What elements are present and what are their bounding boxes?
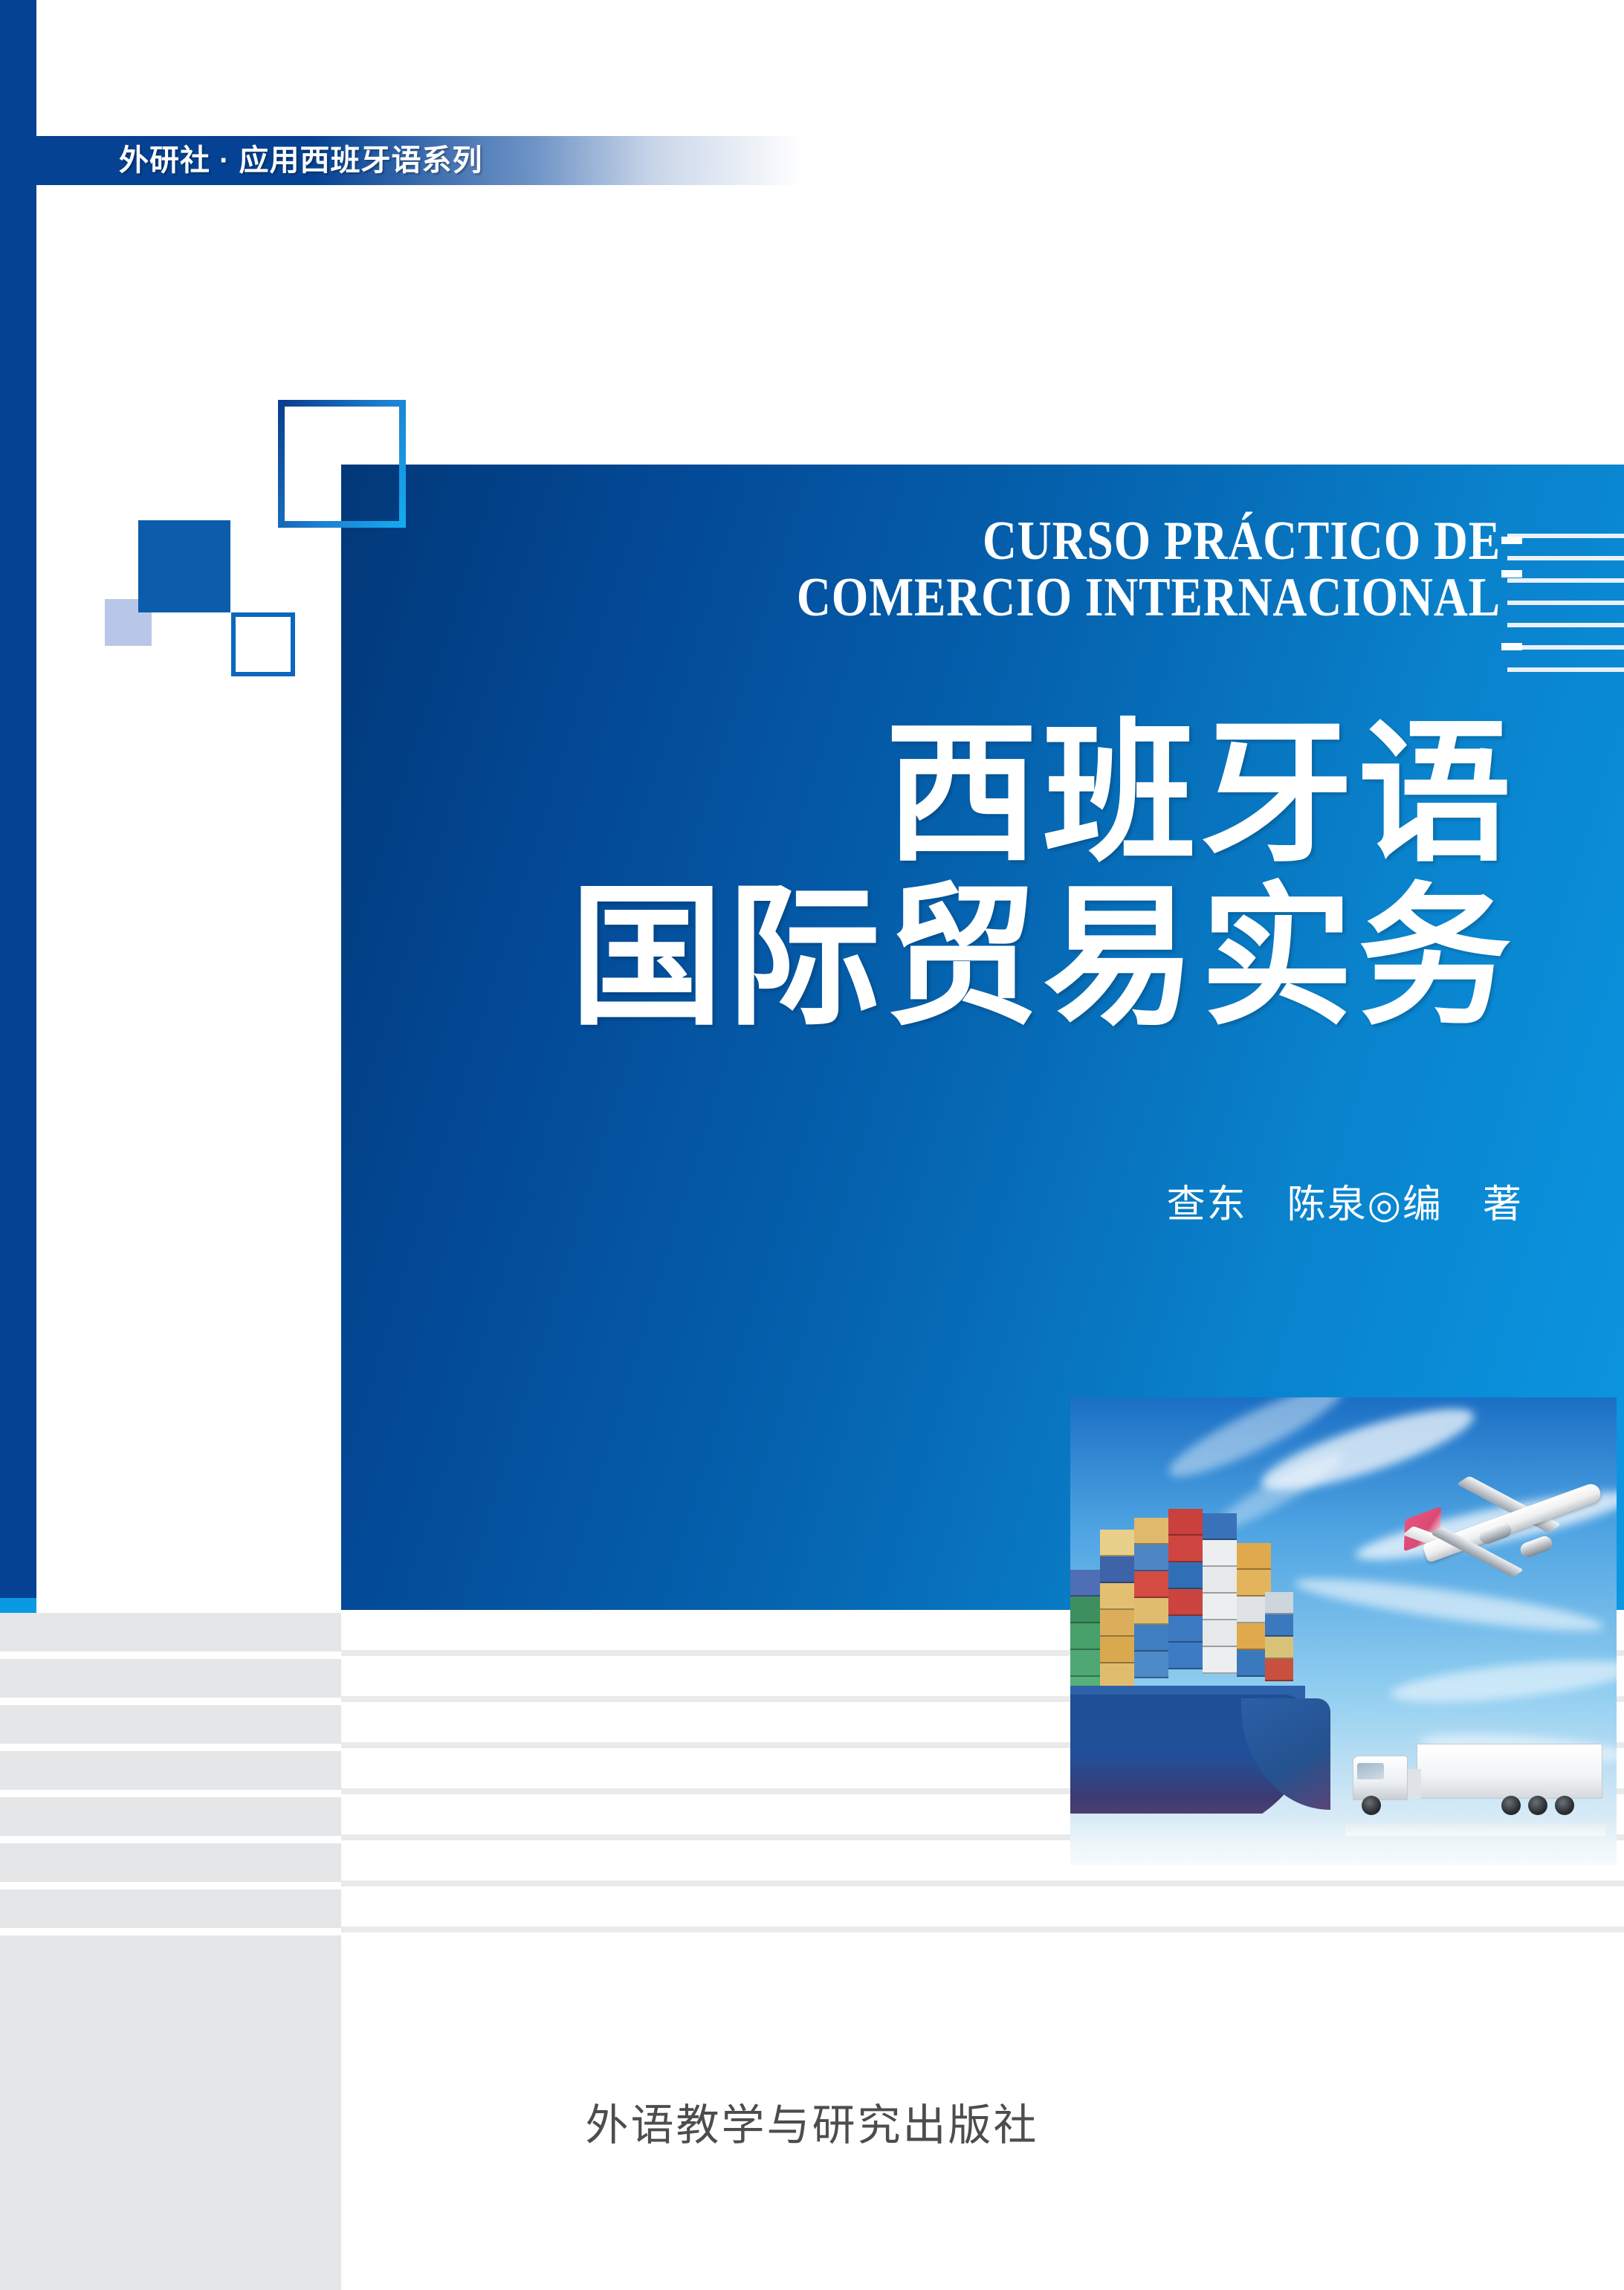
- airplane-icon: [1390, 1468, 1613, 1594]
- airplane-engine: [1518, 1534, 1554, 1559]
- truck-wheel: [1362, 1796, 1381, 1815]
- logistics-photo: [1070, 1397, 1617, 1866]
- decorative-rule: [1507, 534, 1624, 538]
- truck-wheel: [1555, 1796, 1574, 1815]
- decorative-tick: [1501, 537, 1522, 544]
- series-label: 外研社 · 应用西班牙语系列: [119, 138, 483, 183]
- decorative-square-outline-large: [278, 400, 406, 528]
- publisher-name: 外语教学与研究出版社: [0, 2090, 1624, 2152]
- spanish-subtitle: CURSO PRÁCTICO DE COMERCIO INTERNACIONAL: [341, 513, 1501, 626]
- truck-wheel: [1501, 1796, 1521, 1815]
- road-surface: [1345, 1824, 1605, 1836]
- truck-wheel: [1528, 1796, 1547, 1815]
- cloud-shape: [1389, 1652, 1617, 1710]
- main-title-line-1: 西班牙语: [341, 717, 1515, 870]
- truck-coupling: [1406, 1769, 1421, 1799]
- container-stack: [1203, 1513, 1237, 1674]
- main-title-line-2: 国际贸易实务: [341, 881, 1515, 1034]
- decorative-rule: [1507, 667, 1624, 672]
- container-stack: [1070, 1570, 1100, 1704]
- decorative-square-outline-small: [231, 612, 295, 676]
- decorative-rule: [1507, 645, 1624, 650]
- container-stack: [1168, 1509, 1203, 1669]
- container-stack: [1265, 1592, 1293, 1681]
- book-cover: 外研社 · 应用西班牙语系列 CURSO PRÁCTICO DE COMERCI…: [0, 0, 1624, 2290]
- decorative-rule: [1507, 601, 1624, 605]
- spanish-subtitle-line-2: COMERCIO INTERNACIONAL: [503, 569, 1501, 626]
- left-vertical-bar: [0, 0, 36, 1613]
- airplane-fuselage: [1422, 1481, 1603, 1563]
- decorative-rule: [1507, 556, 1624, 560]
- container-stack: [1100, 1530, 1134, 1690]
- truck-icon: [1345, 1739, 1605, 1836]
- container-stack: [1134, 1518, 1168, 1678]
- author-line: 查东 陈泉◎编 著: [341, 1173, 1523, 1229]
- decorative-rule: [1507, 578, 1624, 583]
- decorative-square-filled: [138, 520, 230, 612]
- spanish-subtitle-line-1: CURSO PRÁCTICO DE: [503, 513, 1501, 569]
- decorative-rules-group: [1507, 534, 1624, 690]
- decorative-rule: [1507, 623, 1624, 627]
- decorative-tick: [1501, 570, 1522, 578]
- left-bar-cyan-cap: [0, 1598, 36, 1613]
- truck-windshield: [1357, 1763, 1384, 1779]
- main-title: 西班牙语 国际贸易实务: [341, 717, 1515, 1034]
- decorative-tick: [1501, 643, 1522, 650]
- truck-trailer: [1417, 1744, 1602, 1799]
